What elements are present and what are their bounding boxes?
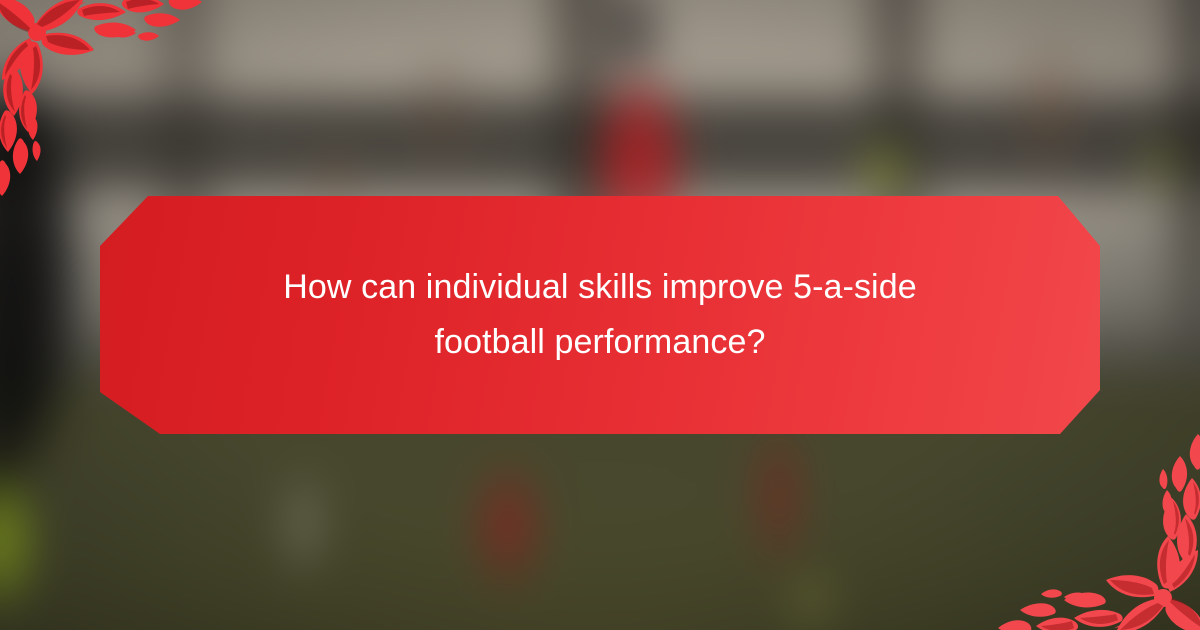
social-share-card: How can individual skills improve 5-a-si… — [0, 0, 1200, 630]
headline-text: How can individual skills improve 5-a-si… — [235, 260, 965, 370]
headline-banner: How can individual skills improve 5-a-si… — [100, 196, 1100, 434]
